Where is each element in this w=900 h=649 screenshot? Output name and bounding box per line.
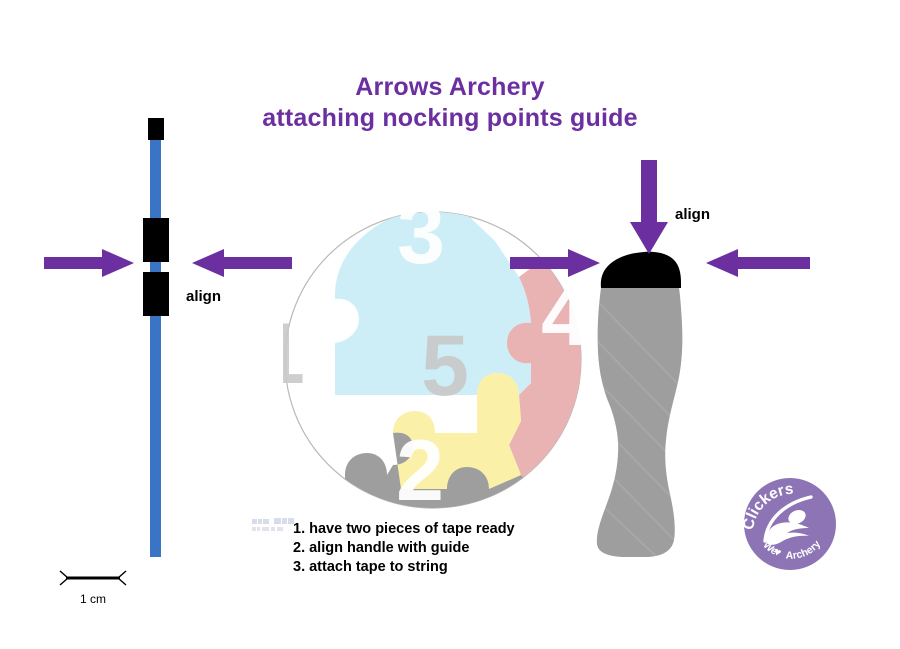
instruction-step-3: 3. attach tape to string	[293, 558, 713, 577]
puzzle-number-4: 4	[541, 268, 583, 364]
bowstring-nock	[148, 118, 164, 140]
puzzle-number-1: 1	[283, 306, 305, 402]
title-line-1: Arrows Archery	[0, 72, 900, 103]
clickers-logo: Clickers We ♥ Archery	[741, 475, 839, 573]
align-label-handle: align	[675, 206, 710, 223]
arrow-handle-left	[706, 248, 810, 278]
instruction-step-2: 2. align handle with guide	[293, 539, 713, 558]
nocking-tape-upper	[143, 218, 169, 262]
bow-handle-graphic	[588, 240, 698, 560]
instruction-list: 1. have two pieces of tape ready 2. alig…	[293, 520, 713, 577]
arrow-string-right	[44, 248, 134, 278]
puzzle-number-3: 3	[397, 186, 445, 282]
scale-bar: 1 cm	[58, 566, 128, 606]
nocking-tape-lower	[143, 272, 169, 316]
align-label-string: align	[186, 288, 221, 305]
faint-watermark	[252, 518, 296, 534]
instruction-step-1: 1. have two pieces of tape ready	[293, 520, 713, 539]
arrow-handle-right	[510, 248, 600, 278]
bowstring	[150, 137, 161, 557]
puzzle-number-5: 5	[421, 318, 469, 414]
guide-canvas: Arrows Archery attaching nocking points …	[0, 0, 900, 649]
scale-bar-caption: 1 cm	[58, 592, 128, 606]
arrow-string-left	[192, 248, 292, 278]
handle-body	[597, 288, 683, 557]
title-line-2: attaching nocking points guide	[0, 103, 900, 134]
puzzle-number-2: 2	[396, 423, 444, 519]
arrow-handle-down	[630, 160, 668, 254]
handle-cap	[601, 252, 681, 288]
puzzle-circle-graphic: 3 4 5 2 1	[283, 145, 583, 545]
page-title: Arrows Archery attaching nocking points …	[0, 72, 900, 134]
